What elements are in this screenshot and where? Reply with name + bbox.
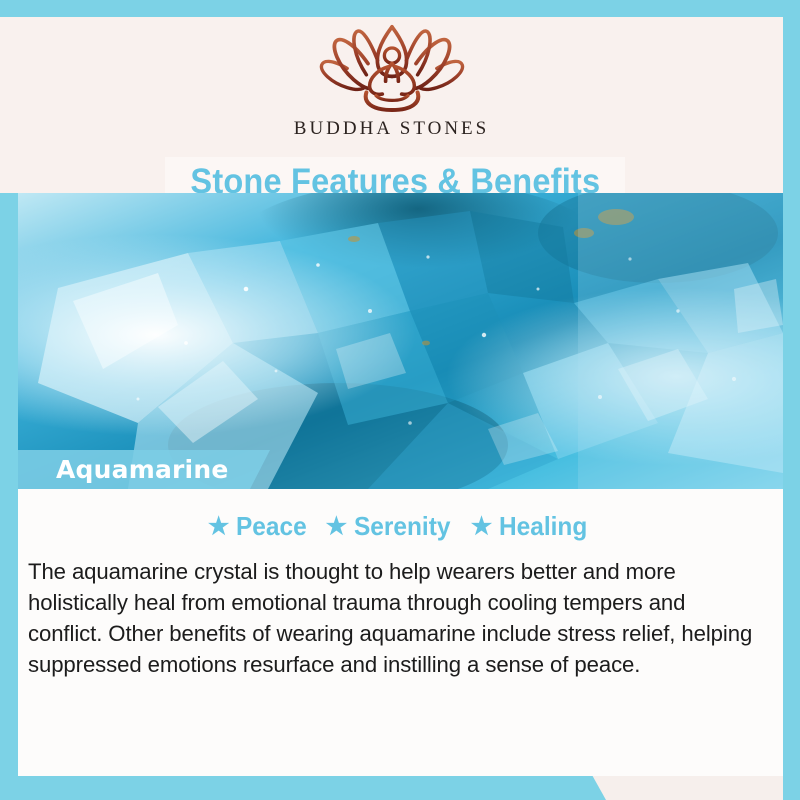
frame-top-bar <box>0 0 800 17</box>
header-section: BUDDHA STONES Stone Features & Benefits <box>0 17 783 193</box>
keyword-item-serenity: ★ Serenity <box>326 511 457 542</box>
keyword-item-healing: ★ Healing <box>471 511 593 542</box>
keyword-label: Peace <box>236 511 307 542</box>
hero-image: Aquamarine <box>18 193 783 489</box>
star-icon: ★ <box>208 515 230 539</box>
keyword-label: Healing <box>499 511 587 542</box>
frame-left-bar <box>0 193 18 800</box>
keyword-label: Serenity <box>354 511 450 542</box>
description-text: The aquamarine crystal is thought to hel… <box>28 556 762 680</box>
stone-name-label: Aquamarine <box>56 455 228 484</box>
poster-canvas: BUDDHA STONES Stone Features & Benefits <box>0 0 800 800</box>
frame-right-bar <box>783 0 800 800</box>
star-icon: ★ <box>326 515 348 539</box>
lotus-meditation-figure-icon <box>312 22 472 117</box>
keyword-list: ★ Peace ★ Serenity ★ Healing <box>18 511 783 542</box>
keyword-item-peace: ★ Peace <box>208 511 312 542</box>
stone-name-ribbon: Aquamarine <box>18 450 270 489</box>
brand-logo: BUDDHA STONES <box>0 22 783 140</box>
content-section: ★ Peace ★ Serenity ★ Healing The aquamar… <box>18 489 783 776</box>
star-icon: ★ <box>471 515 493 539</box>
brand-name: BUDDHA STONES <box>294 118 489 140</box>
